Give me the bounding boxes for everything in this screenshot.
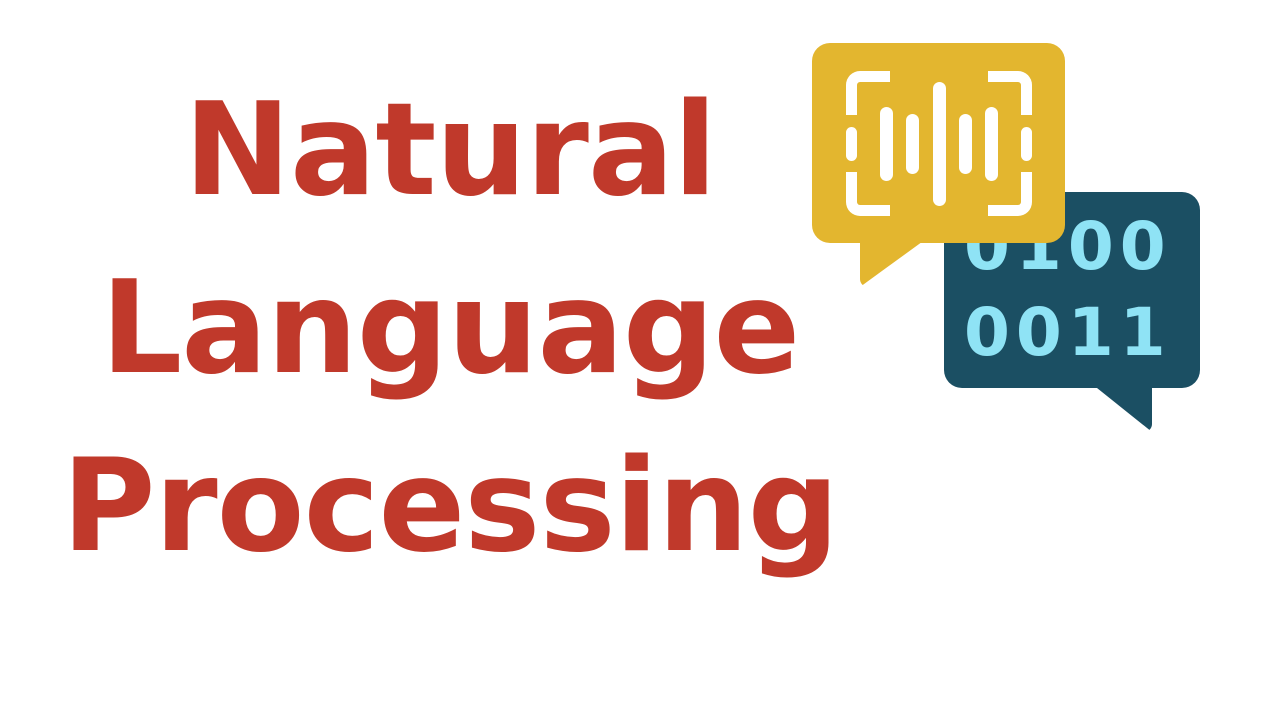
title-line-1: Natural bbox=[0, 62, 900, 240]
voice-speech-bubble bbox=[812, 43, 1065, 243]
nlp-illustration: 0100 0011 bbox=[800, 30, 1220, 450]
waveform-bar-3 bbox=[933, 82, 946, 206]
scan-dash-left-icon bbox=[846, 127, 857, 161]
page-title: Natural Language Processing bbox=[0, 62, 900, 596]
waveform-bars bbox=[880, 71, 998, 216]
title-line-2: Language bbox=[0, 240, 900, 418]
voice-bubble-tail bbox=[860, 239, 926, 287]
waveform-bar-1 bbox=[880, 107, 893, 181]
waveform-bar-2 bbox=[906, 114, 919, 174]
scan-dash-right-icon bbox=[1021, 127, 1032, 161]
binary-row-2: 0011 bbox=[964, 298, 1180, 368]
waveform-bar-4 bbox=[959, 114, 972, 174]
waveform-bar-5 bbox=[985, 107, 998, 181]
title-line-3: Processing bbox=[0, 418, 900, 596]
binary-bubble-tail bbox=[1092, 384, 1152, 432]
slide-canvas: Natural Language Processing 0100 0011 bbox=[0, 0, 1280, 720]
voice-waveform-scan-icon bbox=[846, 71, 1032, 216]
